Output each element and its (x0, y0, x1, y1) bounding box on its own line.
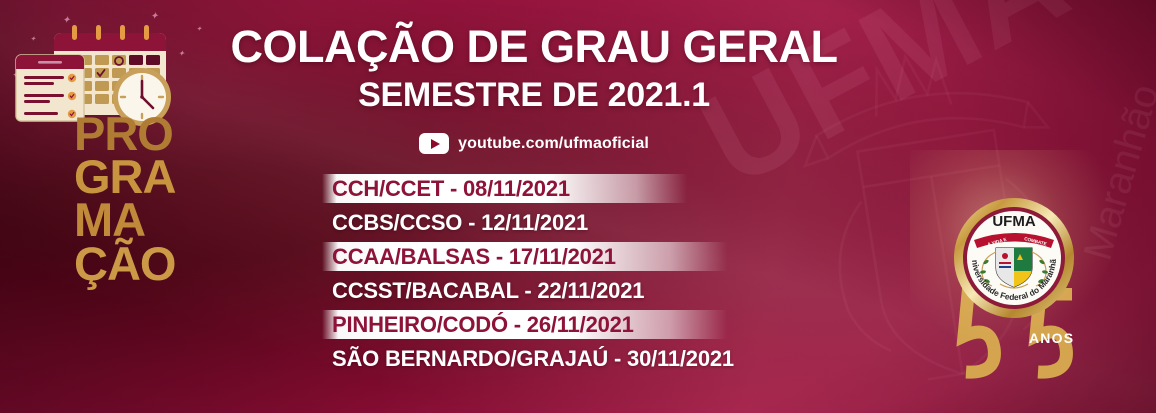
schedule-row: CCBS/CCSO - 12/11/2021 (232, 206, 840, 240)
schedule-row: CCH/CCET - 08/11/2021 (232, 172, 840, 206)
youtube-icon (419, 133, 449, 154)
youtube-link[interactable]: youtube.com/ufmaoficial (228, 133, 840, 154)
youtube-link-label: youtube.com/ufmaoficial (458, 135, 649, 153)
schedule-row-label: CCH/CCET - 08/11/2021 (232, 176, 570, 202)
programacao-line-1: PRO (74, 112, 244, 155)
programacao-line-4: ÇÃO (74, 242, 244, 285)
programacao-line-2: GRA (74, 155, 244, 198)
schedule-row-label: CCSST/BACABAL - 22/11/2021 (232, 278, 644, 304)
page-subtitle: SEMESTRE DE 2021.1 (228, 76, 840, 115)
schedule-row: SÃO BERNARDO/GRAJAÚ - 30/11/2021 (232, 342, 840, 376)
schedule-row-label: CCBS/CCSO - 12/11/2021 (232, 210, 588, 236)
schedule-row-label: PINHEIRO/CODÓ - 26/11/2021 (232, 312, 634, 338)
schedule-row-label: CCAA/BALSAS - 17/11/2021 (232, 244, 616, 270)
programacao-heading: PRO GRA MA ÇÃO (74, 112, 244, 285)
schedule-list: CCH/CCET - 08/11/2021 CCBS/CCSO - 12/11/… (232, 172, 840, 376)
programacao-line-3: MA (74, 198, 244, 241)
schedule-row: PINHEIRO/CODÓ - 26/11/2021 (232, 308, 840, 342)
ufma-seal: UFMA A VIDA E COMBATE (952, 196, 1076, 320)
schedule-row: CCSST/BACABAL - 22/11/2021 (232, 274, 840, 308)
anniversary-label: ANOS (1029, 330, 1074, 346)
schedule-row-label: SÃO BERNARDO/GRAJAÚ - 30/11/2021 (232, 346, 734, 372)
graduation-banner: UFMA Maranhão ✦ ✦ ✦ ✦ ✦ ✦ (0, 0, 1156, 413)
seal-acronym: UFMA (992, 213, 1035, 230)
schedule-row: CCAA/BALSAS - 17/11/2021 (232, 240, 840, 274)
page-title: COLAÇÃO DE GRAU GERAL (228, 24, 840, 70)
